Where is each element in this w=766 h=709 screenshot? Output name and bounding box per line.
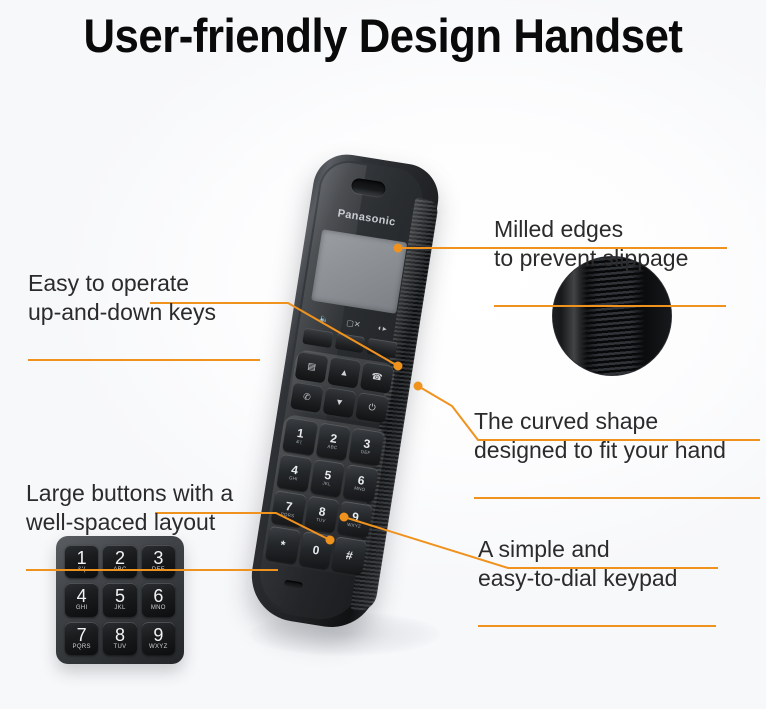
end-power-key[interactable]: ⏻: [355, 392, 389, 424]
handset-key-4[interactable]: 4GHI: [276, 453, 312, 491]
key-letters: &'(: [296, 439, 303, 445]
key-digit: 9: [351, 510, 359, 523]
closeup-key-8: 8TUV: [103, 622, 136, 655]
closeup-key-9: 9WXYZ: [142, 622, 175, 655]
key-letters: MNO: [354, 486, 366, 493]
closeup-key-letters: PQRS: [73, 644, 91, 651]
down-key[interactable]: ▼: [323, 386, 357, 418]
key-letters: PQRS: [281, 511, 295, 518]
callout-large-buttons: Large buttons with a well-spaced layout: [26, 450, 278, 600]
handset-key-0[interactable]: 0: [298, 531, 334, 569]
callout-milled-edges-text: Milled edges to prevent slippage: [494, 215, 726, 273]
key-digit: 5: [324, 469, 332, 482]
key-letters: ABC: [327, 444, 338, 450]
key-digit: 7: [285, 500, 293, 513]
up-key[interactable]: ▲: [327, 356, 361, 388]
mute-icon: ▢✕: [346, 319, 361, 329]
callout-simple-keypad-underline: [478, 625, 716, 627]
menu-key[interactable]: ▤: [295, 351, 329, 383]
callout-up-down-keys-underline: [28, 359, 260, 361]
closeup-key-7: 7PQRS: [65, 622, 98, 655]
infographic-canvas: User-friendly Design Handset Panasonic 🔈…: [0, 0, 766, 709]
callout-simple-keypad: A simple and easy-to-dial keypad: [478, 506, 716, 656]
callout-up-down-keys-text: Easy to operate up-and-down keys: [28, 269, 260, 327]
callout-curved-shape-underline: [474, 497, 760, 499]
key-letters: GHI: [289, 475, 298, 481]
key-digit: 1: [296, 427, 304, 440]
handset-key-5[interactable]: 5JKL: [310, 459, 346, 497]
talk-key[interactable]: ✆: [290, 381, 324, 413]
page-title: User-friendly Design Handset: [27, 8, 739, 64]
handset-key-3[interactable]: 3DEF: [349, 428, 385, 466]
closeup-key-letters: MNO: [151, 605, 166, 612]
callout-milled-edges: Milled edges to prevent slippage: [494, 186, 726, 336]
key-letters: DEF: [360, 449, 370, 455]
handset-display: [311, 229, 407, 314]
key-letters: JKL: [322, 481, 331, 487]
callout-up-down-keys: Easy to operate up-and-down keys: [28, 240, 260, 390]
handset-key-2[interactable]: 2ABC: [315, 422, 351, 460]
key-digit: 4: [290, 464, 298, 477]
phonebook-key[interactable]: ☎: [360, 361, 394, 393]
closeup-key-letters: WXYZ: [149, 644, 168, 651]
closeup-key-digit: 8: [115, 626, 125, 644]
handset-key-9[interactable]: 9WXYZ: [337, 500, 373, 538]
speaker-icon: 🔈: [318, 315, 329, 324]
handset-key-1[interactable]: 1&'(: [282, 417, 318, 455]
key-digit: 2: [329, 433, 337, 446]
callout-curved-shape-text: The curved shape designed to fit your ha…: [474, 407, 760, 465]
callout-simple-keypad-text: A simple and easy-to-dial keypad: [478, 535, 716, 593]
key-letters: TUV: [316, 517, 326, 523]
key-digit: 0: [312, 544, 320, 557]
closeup-key-digit: 9: [153, 626, 163, 644]
callout-large-buttons-text: Large buttons with a well-spaced layout: [26, 479, 278, 537]
volume-icon: ◐▸: [377, 324, 387, 333]
handset-key-8[interactable]: 8TUV: [304, 495, 340, 533]
key-digit: *: [280, 539, 286, 552]
closeup-key-digit: 7: [77, 626, 87, 644]
key-digit: 6: [357, 474, 365, 487]
closeup-key-letters: TUV: [114, 644, 127, 651]
callout-milled-edges-underline: [494, 305, 726, 307]
closeup-key-letters: JKL: [114, 605, 125, 612]
key-digit: #: [345, 549, 353, 562]
closeup-key-letters: GHI: [76, 605, 88, 612]
key-digit: 3: [363, 438, 371, 451]
handset-key-hash[interactable]: #: [331, 537, 367, 575]
key-digit: 8: [318, 505, 326, 518]
key-letters: WXYZ: [347, 522, 361, 529]
handset-key-6[interactable]: 6MNO: [343, 464, 379, 502]
callout-large-buttons-underline: [26, 569, 278, 571]
